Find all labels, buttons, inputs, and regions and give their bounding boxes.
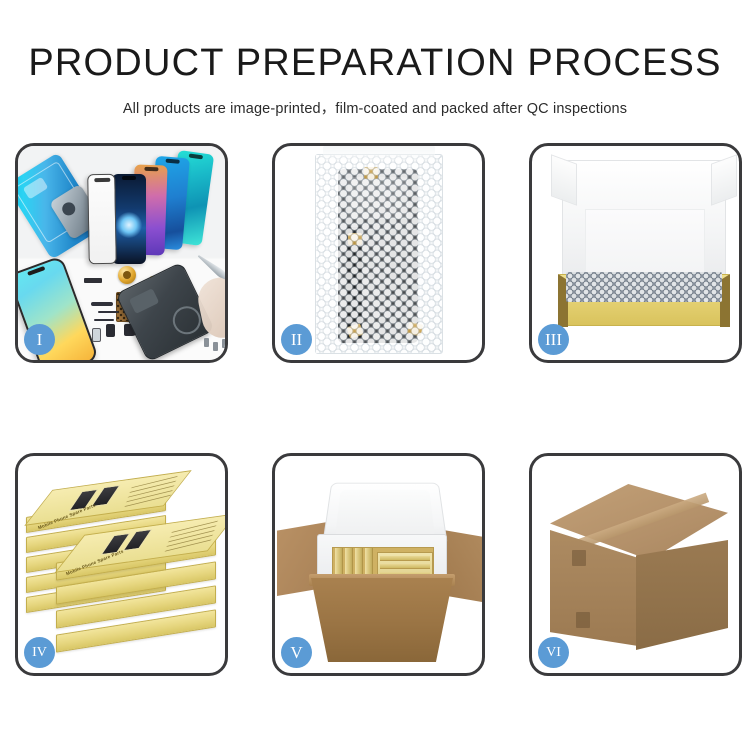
step-panel-5: V bbox=[272, 453, 485, 676]
flex-cable-icon bbox=[91, 302, 113, 306]
loose-screws-icon bbox=[204, 338, 225, 354]
sim-tray-icon bbox=[92, 328, 101, 342]
step-panel-3: III bbox=[529, 143, 742, 363]
step-badge-4: IV bbox=[24, 637, 55, 668]
step-panel-4: Mobile Phone Spare Parts Mobile Phone Sp… bbox=[15, 453, 228, 676]
step-badge-5: V bbox=[281, 637, 312, 668]
box-stack-group: Mobile Phone Spare Parts Mobile Phone Sp… bbox=[20, 464, 225, 664]
notch-icon bbox=[144, 167, 158, 171]
step-panel-2: II bbox=[272, 143, 485, 363]
process-steps-grid: I II bbox=[15, 143, 745, 676]
phone-fan-group bbox=[80, 152, 225, 274]
bubble-wrap-fill-icon bbox=[566, 272, 722, 302]
camera-module-icon bbox=[106, 324, 115, 337]
bubble-texture bbox=[316, 155, 442, 353]
step-badge-1: I bbox=[24, 324, 55, 355]
notch-icon bbox=[166, 159, 180, 164]
step-badge-2: II bbox=[281, 324, 312, 355]
header: PRODUCT PREPARATION PROCESS All products… bbox=[0, 0, 750, 118]
notch-icon bbox=[189, 153, 203, 158]
bag-top-fold bbox=[323, 146, 435, 160]
box-lid-icon bbox=[562, 160, 726, 288]
chip-part-icon bbox=[84, 278, 102, 283]
carton-side-face bbox=[636, 540, 728, 650]
step-badge-6: VI bbox=[538, 637, 569, 668]
carton-handle-tab bbox=[572, 550, 586, 566]
notch-icon bbox=[122, 176, 136, 180]
carton-body-icon bbox=[311, 578, 453, 662]
page-subtitle: All products are image-printed，film-coat… bbox=[0, 82, 750, 118]
step-badge-3: III bbox=[538, 324, 569, 355]
gold-coil-part-icon bbox=[118, 266, 136, 284]
screen-protector-icon bbox=[87, 174, 117, 264]
product-preparation-infographic: PRODUCT PREPARATION PROCESS All products… bbox=[0, 0, 750, 750]
phone-dark-icon bbox=[112, 174, 146, 264]
step-panel-6: VI bbox=[529, 453, 742, 676]
step-panel-1: I bbox=[15, 143, 228, 363]
carton-handle-tab bbox=[576, 612, 590, 628]
bubble-wrap-bag-icon bbox=[315, 154, 443, 354]
page-title: PRODUCT PREPARATION PROCESS bbox=[0, 0, 750, 82]
